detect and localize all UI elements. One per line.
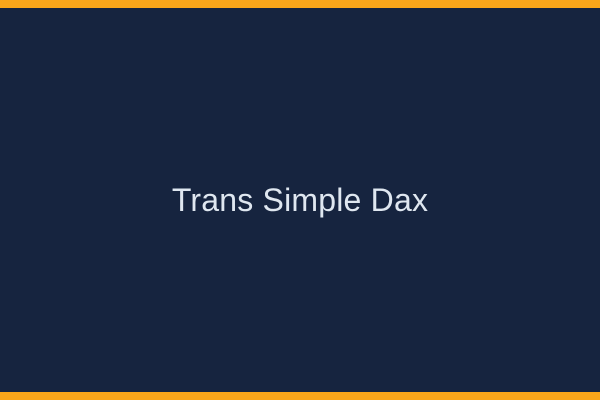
page-title: Trans Simple Dax (172, 184, 428, 216)
accent-bar-bottom (0, 392, 600, 400)
placeholder-card: Trans Simple Dax (0, 0, 600, 400)
accent-bar-top (0, 0, 600, 8)
